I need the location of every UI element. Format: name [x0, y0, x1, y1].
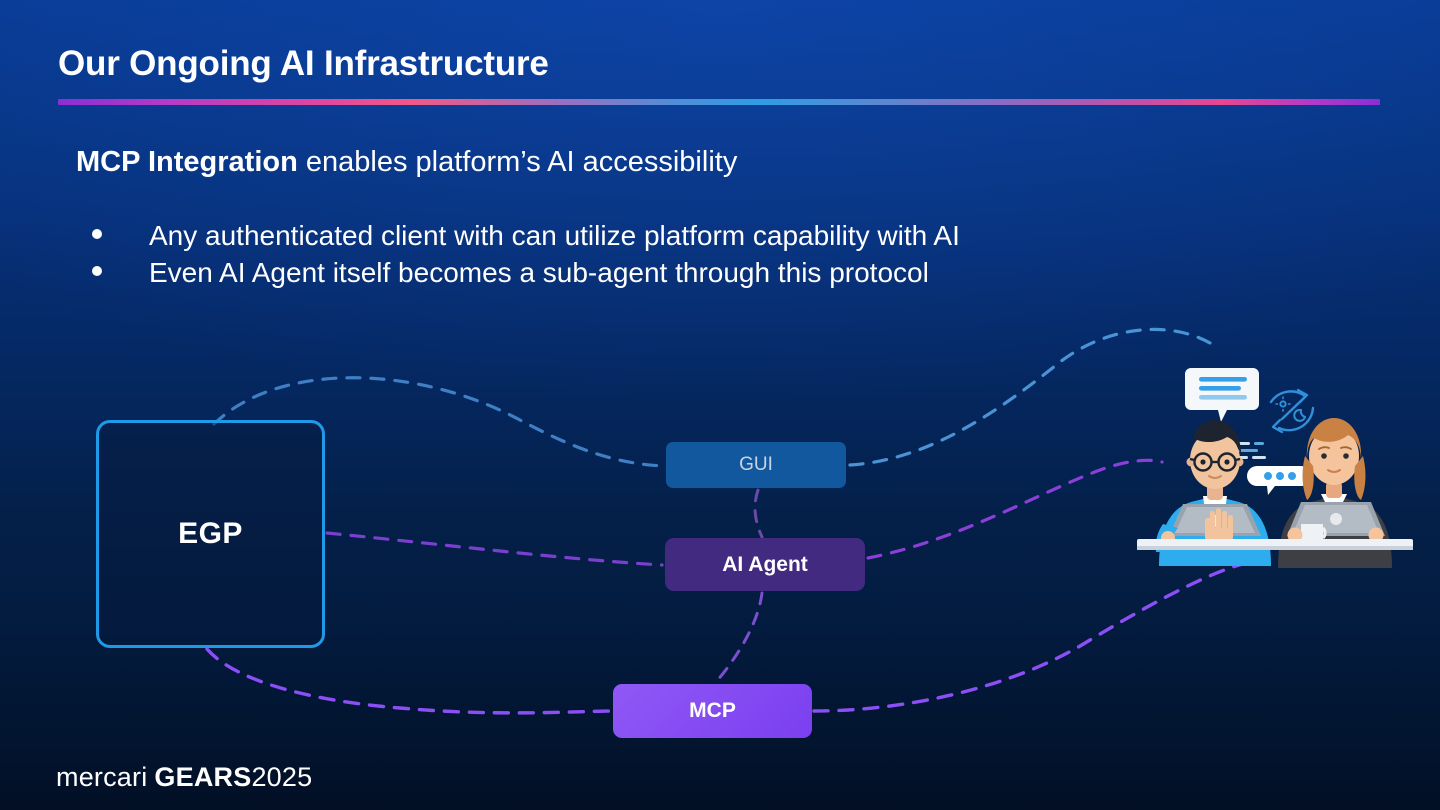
chat-dots-bubble-icon [1247, 466, 1311, 495]
footer-year: 2025 [251, 762, 312, 792]
diagram-node-egp[interactable]: EGP [96, 420, 325, 648]
speech-bubble-lines-icon [1185, 368, 1259, 422]
footer-brand-mercari: mercari [56, 762, 147, 792]
illustration-two-people-at-laptops [1135, 356, 1415, 586]
diagram-node-label: AI Agent [722, 553, 808, 577]
connector-gui-to-aiagent [755, 490, 762, 537]
connector-egp-to-mcp [207, 649, 610, 713]
footer-brand-gears: GEARS [154, 762, 251, 792]
slide-root: Our Ongoing AI Infrastructure MCP Integr… [0, 0, 1440, 810]
diagram-node-label: GUI [739, 454, 773, 476]
diagram-node-mcp[interactable]: MCP [613, 684, 812, 738]
connector-aiagent-to-users [868, 460, 1162, 558]
connector-egp-to-aiagent [327, 533, 662, 565]
sync-day-night-icon [1271, 390, 1313, 432]
diagram-node-gui[interactable]: GUI [666, 442, 846, 488]
diagram-node-label: MCP [689, 699, 736, 723]
architecture-diagram: EGP GUI AI Agent MCP [0, 0, 1440, 810]
diagram-node-label: EGP [178, 517, 243, 551]
diagram-node-ai-agent[interactable]: AI Agent [665, 538, 865, 591]
footer-logo: mercariGEARS2025 [56, 762, 312, 793]
connector-aiagent-to-mcp [716, 593, 762, 682]
